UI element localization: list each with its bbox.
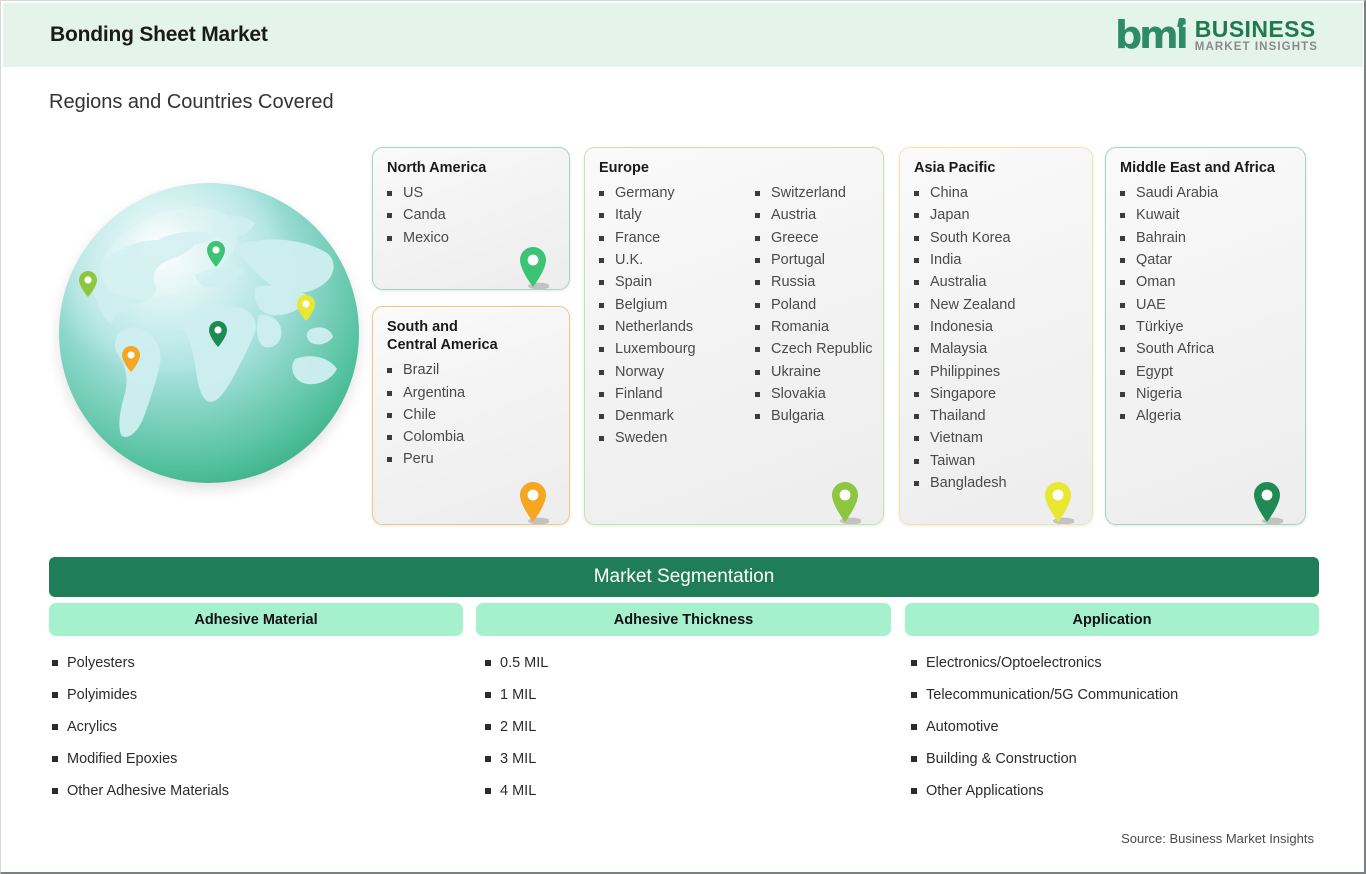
list-item: Singapore <box>914 383 1015 405</box>
list-item: Switzerland <box>755 182 873 204</box>
globe-pin-europe <box>79 271 97 297</box>
list-item: Türkiye <box>1120 316 1218 338</box>
brand-logo: bmi BUSINESS MARKET INSIGHTS <box>1115 16 1318 54</box>
brand-wordmark: BUSINESS MARKET INSIGHTS <box>1195 17 1318 53</box>
segmentation-list-adhesive-material: PolyestersPolyimidesAcrylicsModified Epo… <box>52 651 229 811</box>
globe-pin-middle-east-africa <box>209 321 227 347</box>
list-item: Bulgaria <box>755 405 873 427</box>
list-item: U.K. <box>599 249 741 271</box>
list-item: Portugal <box>755 249 873 271</box>
list-item: Finland <box>599 383 741 405</box>
segmentation-column-header-adhesive-thickness[interactable]: Adhesive Thickness <box>476 603 891 636</box>
list-item: Polyimides <box>52 683 229 715</box>
region-title: Middle East and Africa <box>1120 159 1305 177</box>
list-item: Russia <box>755 271 873 293</box>
list-item: Sweden <box>599 427 741 449</box>
page-header: Bonding Sheet Market bmi BUSINESS MARKET… <box>3 3 1363 67</box>
list-item: US <box>387 182 449 204</box>
bmi-logo-icon: bmi <box>1115 16 1186 54</box>
list-item: Telecommunication/5G Communication <box>911 683 1178 715</box>
list-item: Slovakia <box>755 383 873 405</box>
list-item: Czech Republic <box>755 338 873 360</box>
list-item: Oman <box>1120 271 1218 293</box>
region-card-north-america[interactable]: North America USCandaMexico <box>372 147 570 290</box>
list-item: Polyesters <box>52 651 229 683</box>
list-item: Automotive <box>911 715 1178 747</box>
region-title: South and Central America <box>387 318 569 354</box>
world-globe-illustration <box>59 183 367 491</box>
map-pin-icon-middle-east-africa <box>1251 481 1283 525</box>
list-item: UAE <box>1120 294 1218 316</box>
list-item: South Africa <box>1120 338 1218 360</box>
list-item: Colombia <box>387 426 465 448</box>
list-item: Electronics/Optoelectronics <box>911 651 1178 683</box>
list-item: Acrylics <box>52 715 229 747</box>
region-card-europe[interactable]: Europe GermanyItalyFranceU.K.SpainBelgiu… <box>584 147 884 525</box>
list-item: Other Adhesive Materials <box>52 779 229 811</box>
region-country-list: BrazilArgentinaChileColombiaPeru <box>373 359 465 470</box>
list-item: Brazil <box>387 359 465 381</box>
map-pin-icon-asia-pacific <box>1042 481 1074 525</box>
list-item: Nigeria <box>1120 383 1218 405</box>
region-title-line2: Central America <box>387 336 569 354</box>
list-item: Greece <box>755 227 873 249</box>
list-item: Chile <box>387 404 465 426</box>
list-item: Ukraine <box>755 361 873 383</box>
list-item: Belgium <box>599 294 741 316</box>
list-item: Germany <box>599 182 741 204</box>
region-title-line1: South and <box>387 318 569 336</box>
list-item: Bangladesh <box>914 472 1015 494</box>
list-item: Algeria <box>1120 405 1218 427</box>
list-item: Philippines <box>914 361 1015 383</box>
list-item: Peru <box>387 448 465 470</box>
region-card-asia-pacific[interactable]: Asia Pacific ChinaJapanSouth KoreaIndiaA… <box>899 147 1093 525</box>
list-item: Egypt <box>1120 361 1218 383</box>
list-item: Austria <box>755 204 873 226</box>
slide-page: Bonding Sheet Market bmi BUSINESS MARKET… <box>0 0 1366 874</box>
list-item: Vietnam <box>914 427 1015 449</box>
list-item: Saudi Arabia <box>1120 182 1218 204</box>
source-label: Source: Business Market Insights <box>1121 831 1314 846</box>
list-item: 1 MIL <box>485 683 548 715</box>
list-item: Bahrain <box>1120 227 1218 249</box>
list-item: New Zealand <box>914 294 1015 316</box>
globe-pin-south-america <box>122 346 140 372</box>
list-item: Indonesia <box>914 316 1015 338</box>
list-item: Other Applications <box>911 779 1178 811</box>
list-item: Romania <box>755 316 873 338</box>
globe-pin-asia-pacific <box>297 295 315 321</box>
list-item: Australia <box>914 271 1015 293</box>
list-item: Spain <box>599 271 741 293</box>
region-title: Asia Pacific <box>914 159 1092 177</box>
list-item: China <box>914 182 1015 204</box>
list-item: Thailand <box>914 405 1015 427</box>
page-title: Bonding Sheet Market <box>50 23 268 47</box>
list-item: Japan <box>914 204 1015 226</box>
list-item: Malaysia <box>914 338 1015 360</box>
region-country-list-2: SwitzerlandAustriaGreecePortugalRussiaPo… <box>741 182 873 450</box>
region-country-list: ChinaJapanSouth KoreaIndiaAustraliaNew Z… <box>900 182 1015 494</box>
region-title: North America <box>387 159 569 177</box>
list-item: Kuwait <box>1120 204 1218 226</box>
segmentation-list-application: Electronics/OptoelectronicsTelecommunica… <box>911 651 1178 811</box>
list-item: Netherlands <box>599 316 741 338</box>
market-segmentation-header: Market Segmentation <box>49 557 1319 597</box>
region-title: Europe <box>599 159 883 177</box>
list-item: Mexico <box>387 227 449 249</box>
brand-name: BUSINESS <box>1195 17 1318 41</box>
list-item: India <box>914 249 1015 271</box>
list-item: 3 MIL <box>485 747 548 779</box>
list-item: Luxembourg <box>599 338 741 360</box>
globe-pin-north-america <box>207 241 225 267</box>
region-card-south-central-america[interactable]: South and Central America BrazilArgentin… <box>372 306 570 525</box>
region-country-list: GermanyItalyFranceU.K.SpainBelgiumNether… <box>585 182 741 450</box>
segmentation-column-header-adhesive-material[interactable]: Adhesive Material <box>49 603 463 636</box>
list-item: South Korea <box>914 227 1015 249</box>
list-item: Modified Epoxies <box>52 747 229 779</box>
list-item: 4 MIL <box>485 779 548 811</box>
region-country-list: USCandaMexico <box>373 182 449 249</box>
bmi-logo-text: bmi <box>1115 13 1186 57</box>
list-item: Qatar <box>1120 249 1218 271</box>
list-item: Argentina <box>387 382 465 404</box>
list-item: Norway <box>599 361 741 383</box>
list-item: France <box>599 227 741 249</box>
list-item: 2 MIL <box>485 715 548 747</box>
list-item: 0.5 MIL <box>485 651 548 683</box>
map-pin-icon-europe <box>829 481 861 525</box>
list-item: Taiwan <box>914 450 1015 472</box>
list-item: Denmark <box>599 405 741 427</box>
list-item: Poland <box>755 294 873 316</box>
list-item: Building & Construction <box>911 747 1178 779</box>
list-item: Italy <box>599 204 741 226</box>
segmentation-list-adhesive-thickness: 0.5 MIL1 MIL2 MIL3 MIL4 MIL <box>485 651 548 811</box>
section-title: Regions and Countries Covered <box>49 91 334 114</box>
list-item: Canda <box>387 204 449 226</box>
map-pin-icon-north-america <box>517 246 549 290</box>
segmentation-column-header-application[interactable]: Application <box>905 603 1319 636</box>
brand-tagline: MARKET INSIGHTS <box>1195 41 1318 53</box>
map-pin-icon-south-central-america <box>517 481 549 525</box>
region-country-list: Saudi ArabiaKuwaitBahrainQatarOmanUAETür… <box>1106 182 1218 427</box>
region-card-middle-east-africa[interactable]: Middle East and Africa Saudi ArabiaKuwai… <box>1105 147 1306 525</box>
